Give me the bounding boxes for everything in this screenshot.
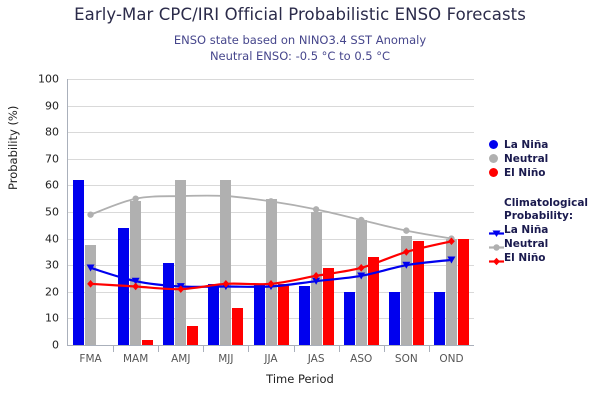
x-axis-tick-label: MAM xyxy=(123,353,148,365)
climatology-marker xyxy=(358,264,365,272)
y-axis-tick-label: 60 xyxy=(0,179,68,192)
y-axis-tick-label: 30 xyxy=(0,259,68,272)
line-circle-marker-icon xyxy=(489,238,504,249)
legend-item-label: La Niña xyxy=(504,139,548,151)
legend-clim-item-el-nino: El Niño xyxy=(489,251,599,264)
legend-item-label: El Niño xyxy=(504,167,546,179)
x-axis-tick-mark xyxy=(158,345,159,352)
circle-marker-icon xyxy=(489,154,498,163)
x-axis-tick-label: SON xyxy=(395,353,418,365)
x-axis-label: Time Period xyxy=(0,372,600,386)
enso-forecast-chart: Early-Mar CPC/IRI Official Probabilistic… xyxy=(0,0,600,400)
legend-clim-item-la-nina: La Niña xyxy=(489,223,599,236)
legend-climatology-section: Climatological Probability: La NiñaNeutr… xyxy=(489,197,599,264)
climatology-marker xyxy=(132,196,138,202)
y-axis-tick-label: 50 xyxy=(0,206,68,219)
climatology-marker xyxy=(403,227,409,233)
y-axis-tick-label: 0 xyxy=(0,339,68,352)
climatology-marker xyxy=(358,217,364,223)
y-axis-tick-label: 90 xyxy=(0,99,68,112)
x-axis-tick-mark xyxy=(384,345,385,352)
x-axis-line xyxy=(67,345,474,346)
x-axis-tick-label: FMA xyxy=(79,353,101,365)
x-axis-tick-label: ASO xyxy=(350,353,372,365)
legend-clim-item-neutral: Neutral xyxy=(489,237,599,250)
x-axis-tick-label: OND xyxy=(439,353,463,365)
climatology-marker xyxy=(87,211,93,217)
legend-item-neutral: Neutral xyxy=(489,152,599,165)
y-axis-tick-label: 100 xyxy=(0,73,68,86)
y-axis-tick-label: 40 xyxy=(0,232,68,245)
y-axis-tick-label: 70 xyxy=(0,152,68,165)
y-axis-tick-label: 10 xyxy=(0,312,68,325)
y-axis-label: Probability (%) xyxy=(6,106,20,190)
chart-subtitle-line-1: ENSO state based on NINO3.4 SST Anomaly xyxy=(0,33,600,47)
legend-clim-item-label: El Niño xyxy=(504,252,546,264)
y-axis-tick-label: 80 xyxy=(0,126,68,139)
legend: La NiñaNeutralEl Niño Climatological Pro… xyxy=(489,138,599,265)
x-axis-tick-mark xyxy=(429,345,430,352)
plot-area: 0102030405060708090100 FMAMAMAMJMJJJJAJA… xyxy=(68,79,474,345)
climatology-marker xyxy=(132,283,139,291)
legend-clim-item-label: La Niña xyxy=(504,224,548,236)
climatology-marker xyxy=(87,280,94,288)
circle-marker-icon xyxy=(489,168,498,177)
chart-subtitle-line-2: Neutral ENSO: -0.5 °C to 0.5 °C xyxy=(0,49,600,63)
climatology-marker xyxy=(313,206,319,212)
legend-bars-section: La NiñaNeutralEl Niño xyxy=(489,138,599,179)
legend-item-el-nino: El Niño xyxy=(489,166,599,179)
line-triangle-marker-icon xyxy=(489,224,504,235)
legend-clim-item-label: Neutral xyxy=(504,238,548,250)
x-axis-tick-label: JJA xyxy=(264,353,277,365)
x-axis-tick-mark xyxy=(248,345,249,352)
circle-marker-icon xyxy=(489,140,498,149)
x-axis-tick-mark xyxy=(294,345,295,352)
y-axis-tick-label: 20 xyxy=(0,285,68,298)
x-axis-tick-mark xyxy=(113,345,114,352)
x-axis-tick-label: JAS xyxy=(308,353,325,365)
climatology-marker xyxy=(178,193,184,199)
chart-title: Early-Mar CPC/IRI Official Probabilistic… xyxy=(0,5,600,24)
line-diamond-marker-icon xyxy=(489,252,504,263)
legend-clim-rows: La NiñaNeutralEl Niño xyxy=(489,223,599,264)
x-axis-tick-label: AMJ xyxy=(171,353,190,365)
legend-item-la-nina: La Niña xyxy=(489,138,599,151)
climatology-marker xyxy=(403,248,410,256)
legend-clim-heading-line-1: Climatological xyxy=(504,197,599,210)
climatology-lines xyxy=(68,79,474,345)
legend-clim-heading-line-2: Probability: xyxy=(504,210,599,223)
x-axis-tick-mark xyxy=(203,345,204,352)
x-axis-tick-mark xyxy=(339,345,340,352)
legend-item-label: Neutral xyxy=(504,153,548,165)
x-axis-tick-label: MJJ xyxy=(218,353,233,365)
climatology-marker xyxy=(268,198,274,204)
